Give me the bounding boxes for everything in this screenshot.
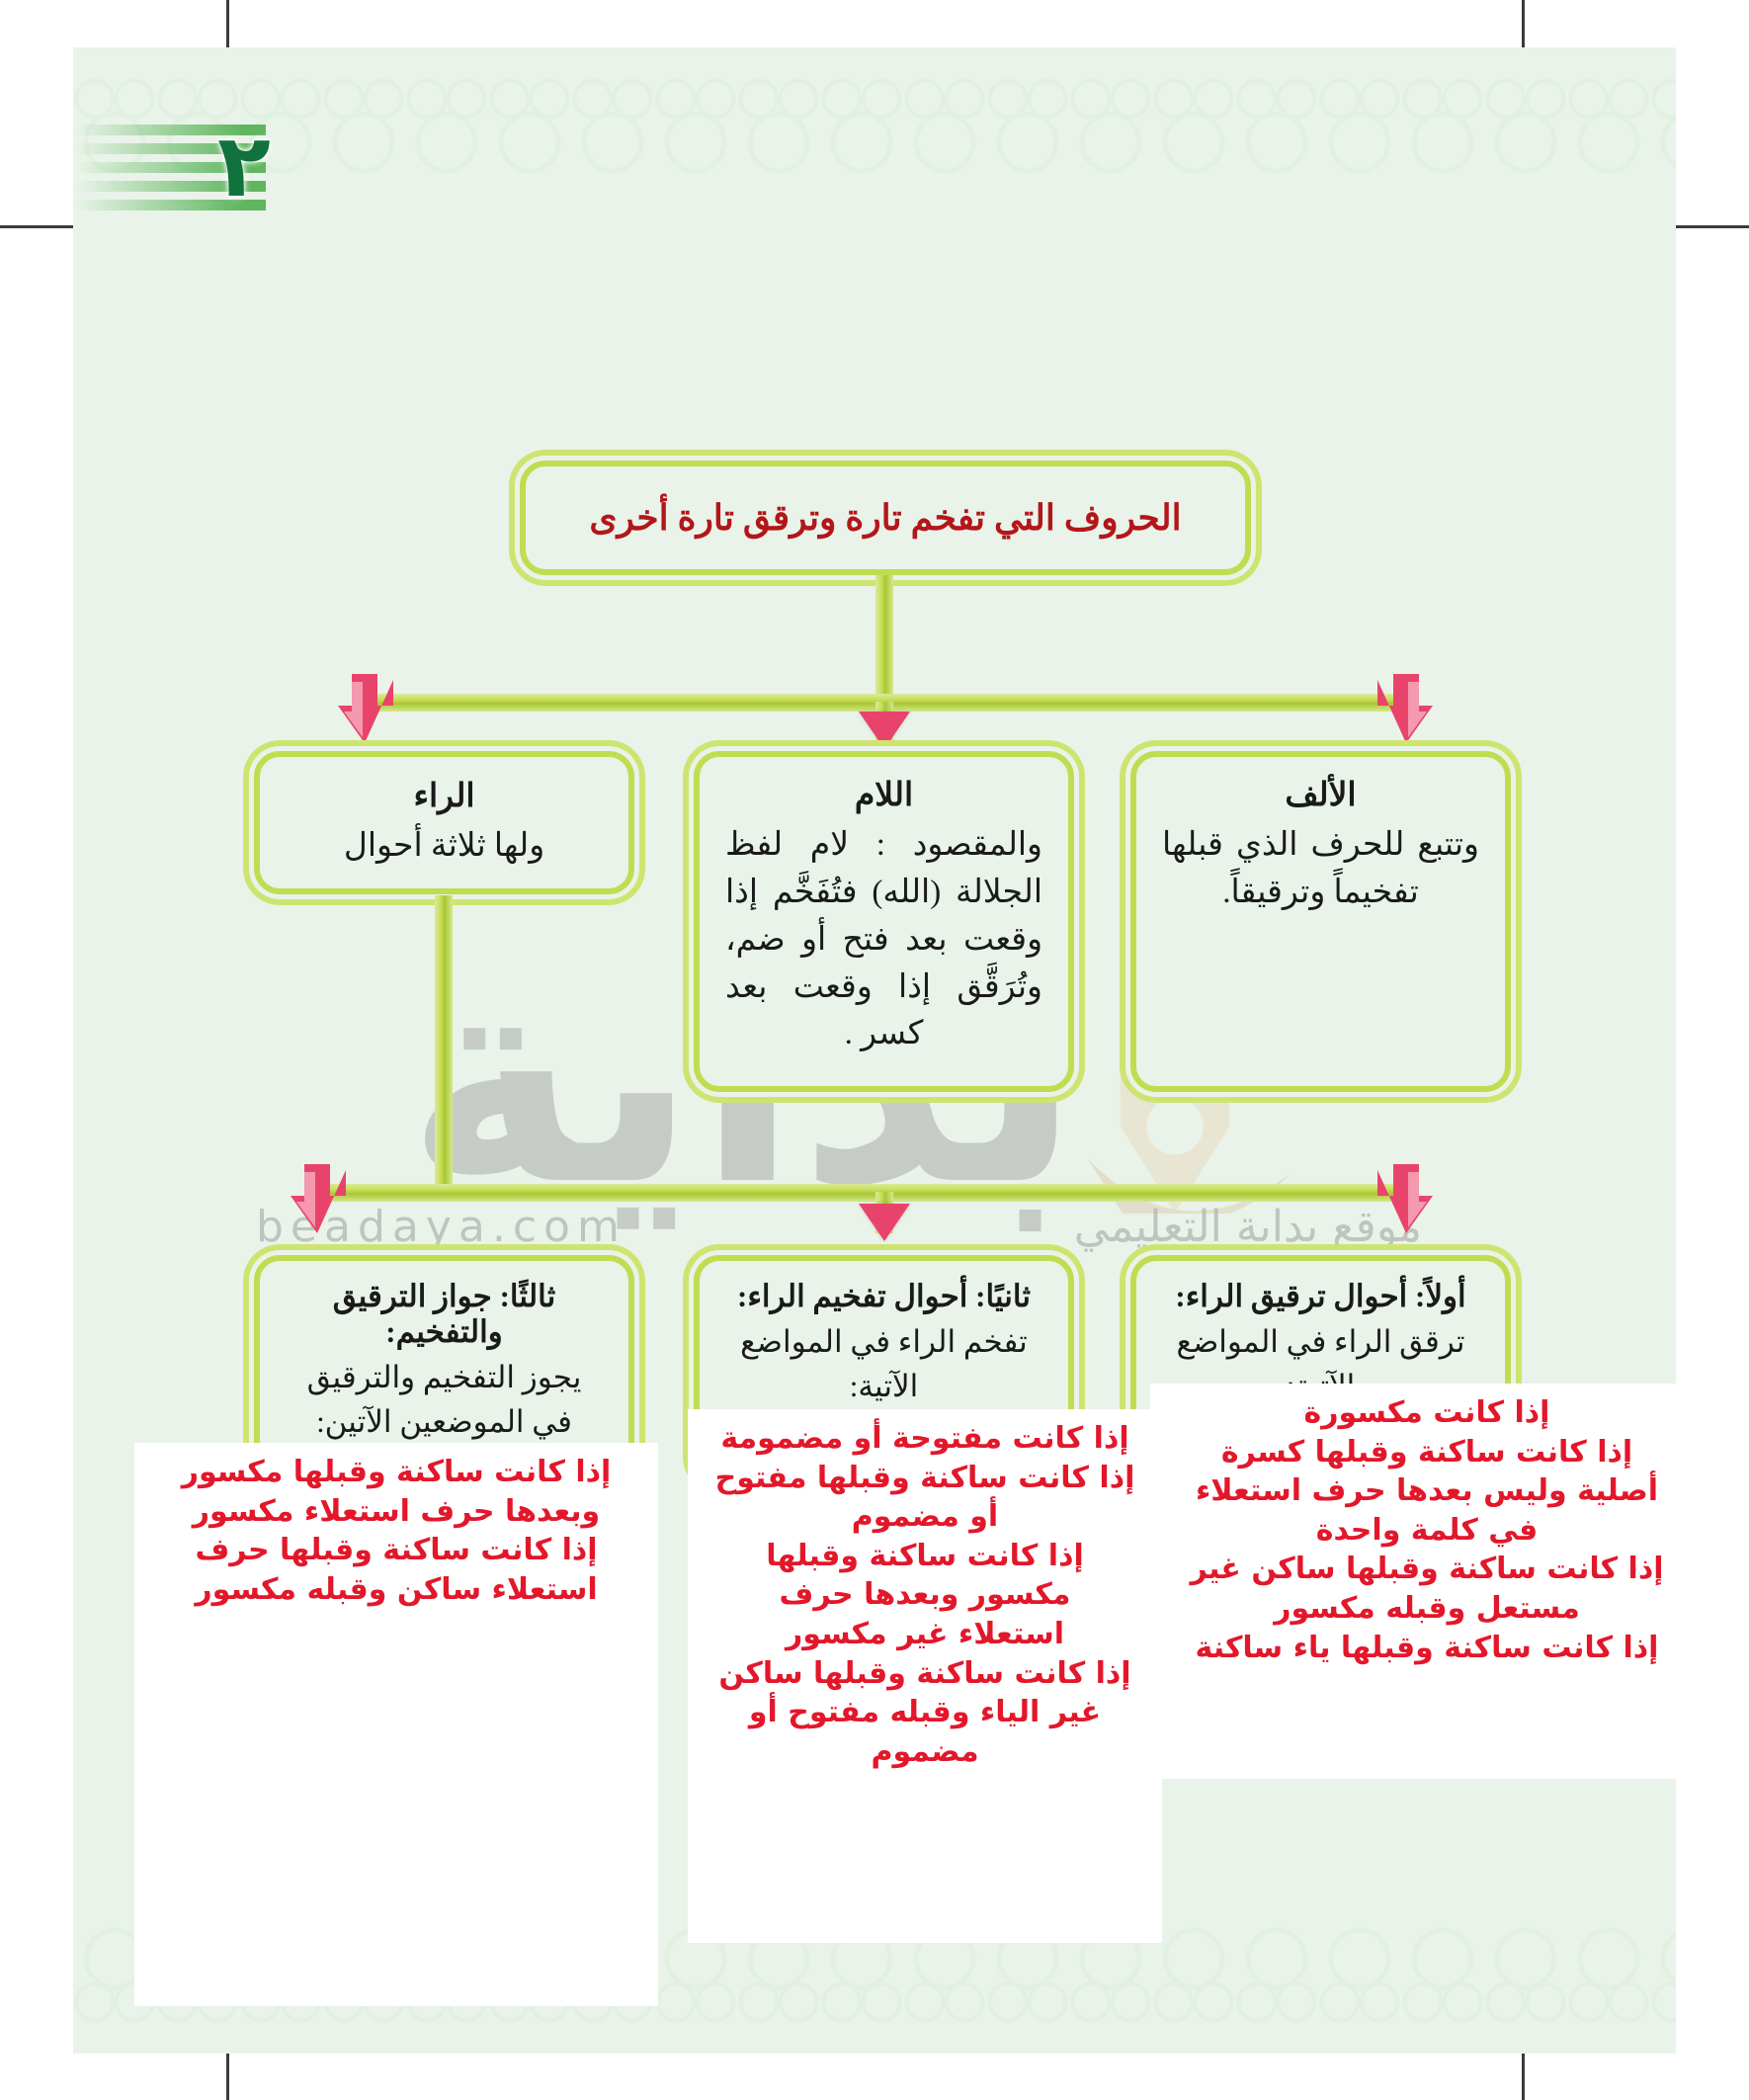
node-jawaz-head: ثالثًا: جواز الترقيق والتفخيم: xyxy=(286,1279,603,1350)
arrow-down-second xyxy=(859,1204,910,1241)
arrow-down-lam xyxy=(859,712,910,749)
answer-line: مضموم xyxy=(702,1732,1148,1772)
node-lam-head: اللام xyxy=(725,775,1042,814)
answer-line: إذا كانت ساكنة وقبلها xyxy=(702,1537,1148,1576)
answer-line: إذا كانت ساكنة وقبلها مكسور xyxy=(148,1453,644,1492)
answer-line: استعلاء غير مكسور xyxy=(702,1615,1148,1654)
flow-diagram: الحروف التي تفخم تارة وترقق تارة أخرى ال… xyxy=(73,47,1676,2054)
answer-line: غير الياء وقبله مفتوح أو xyxy=(702,1693,1148,1732)
arrow-elbow-third xyxy=(285,1162,358,1257)
node-tafkheem-body: تفخم الراء في المواضع الآتية: xyxy=(725,1320,1042,1409)
connector-raa-stem xyxy=(435,895,453,1192)
answer-line: أصلية وليس بعدها حرف استعلاء xyxy=(1164,1471,1676,1511)
page-sheet: ٢ بداية beadaya.com موقع بداية التعليمي … xyxy=(73,47,1676,2054)
node-alef: الألف وتتبع للحرف الذي قبلها تفخيماً وتر… xyxy=(1130,751,1511,1092)
answer-line: أو مضموم xyxy=(702,1497,1148,1537)
answer-line: وبعدها حرف استعلاء مكسور xyxy=(148,1492,644,1532)
answers-tafkheem: إذا كانت مفتوحة أو مضمومةإذا كانت ساكنة … xyxy=(688,1409,1162,1943)
node-lam: اللام والمقصود : لام لفظ الجلالة (الله) … xyxy=(694,751,1074,1092)
answer-line: إذا كانت ساكنة وقبلها ياء ساكنة xyxy=(1164,1629,1676,1668)
node-alef-head: الألف xyxy=(1162,775,1479,814)
arrow-elbow-first xyxy=(1366,1162,1439,1257)
answer-line: إذا كانت ساكنة وقبلها كسرة xyxy=(1164,1433,1676,1472)
answer-line: استعلاء ساكن وقبله مكسور xyxy=(148,1570,644,1610)
node-lam-body: والمقصود : لام لفظ الجلالة (الله) فتُفَخ… xyxy=(725,822,1042,1058)
node-alef-body: وتتبع للحرف الذي قبلها تفخيماً وترقيقاً. xyxy=(1162,822,1479,917)
answer-line: إذا كانت مفتوحة أو مضمومة xyxy=(702,1419,1148,1459)
answer-line: إذا كانت ساكنة وقبلها مفتوح xyxy=(702,1459,1148,1498)
answer-line: إذا كانت ساكنة وقبلها حرف xyxy=(148,1531,644,1570)
answer-line: في كلمة واحدة xyxy=(1164,1511,1676,1551)
connector-bus-level2 xyxy=(322,1184,1399,1202)
answer-line: إذا كانت ساكنة وقبلها ساكن xyxy=(702,1654,1148,1694)
node-jawaz-body: يجوز التفخيم والترقيق في الموضعين الآتين… xyxy=(286,1356,603,1445)
root-label: الحروف التي تفخم تارة وترقق تارة أخرى xyxy=(589,497,1181,539)
answer-line: مستعل وقبله مكسور xyxy=(1164,1589,1676,1629)
connector-root-stem xyxy=(875,575,893,702)
node-raa-head: الراء xyxy=(413,776,474,815)
node-tarqeeq-head: أولاً: أحوال ترقيق الراء: xyxy=(1162,1279,1479,1314)
node-raa: الراء ولها ثلاثة أحوال xyxy=(254,751,634,894)
answers-tarqeeq: إذا كانت مكسورةإذا كانت ساكنة وقبلها كسر… xyxy=(1150,1384,1676,1779)
answers-jawaz: إذا كانت ساكنة وقبلها مكسوروبعدها حرف اس… xyxy=(134,1443,658,2006)
answer-line: إذا كانت ساكنة وقبلها ساكن غير xyxy=(1164,1550,1676,1589)
diagram-root-node: الحروف التي تفخم تارة وترقق تارة أخرى xyxy=(520,461,1251,575)
answer-line: إذا كانت مكسورة xyxy=(1164,1393,1676,1433)
answer-line: مكسور وبعدها حرف xyxy=(702,1575,1148,1615)
node-raa-body: ولها ثلاثة أحوال xyxy=(344,823,544,871)
node-tafkheem-head: ثانيًا: أحوال تفخيم الراء: xyxy=(725,1279,1042,1314)
